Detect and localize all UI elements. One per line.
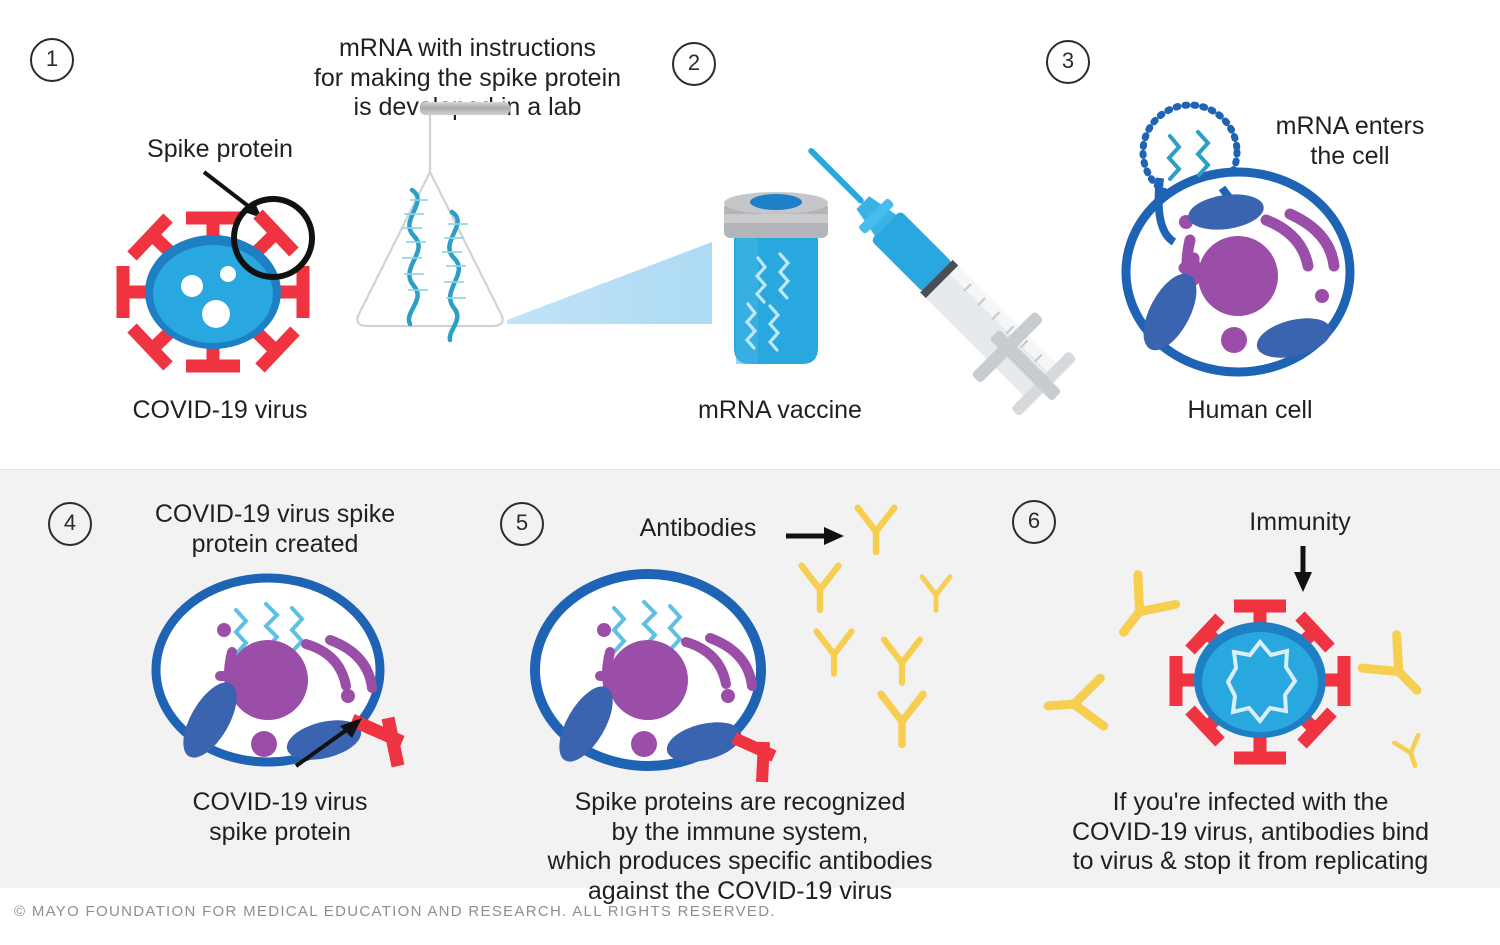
- covid-virus-illustration: [88, 186, 338, 396]
- antibody: [816, 632, 851, 674]
- mrna-vaccine-label: mRNA vaccine: [640, 396, 920, 426]
- spike-protein-callout-label: Spike protein: [110, 135, 330, 165]
- lab-flask-illustration: [352, 102, 652, 402]
- step-number-5: 5: [500, 502, 544, 546]
- spike-protein-on-cell: [734, 738, 774, 782]
- cell-recognized-illustration: [518, 560, 798, 790]
- needle: [807, 147, 865, 205]
- flask-outline: [357, 108, 502, 326]
- light-beam: [507, 242, 712, 324]
- step5-description: Spike proteins are recognized by the imm…: [500, 788, 980, 906]
- antibody: [858, 508, 895, 552]
- flask-rim: [420, 102, 510, 115]
- antibodies-callout-label: Antibodies: [608, 514, 788, 544]
- step-number-1: 1: [30, 38, 74, 82]
- step-number-4: 4: [48, 502, 92, 546]
- immunity-callout-label: Immunity: [1200, 508, 1400, 538]
- spike-protein-pointer-arrow: [290, 714, 380, 774]
- human-cell-label: Human cell: [1130, 396, 1370, 426]
- nucleus: [1198, 236, 1278, 316]
- step-number-2: 2: [672, 42, 716, 86]
- antibody: [802, 566, 839, 610]
- virus-body: [1202, 632, 1318, 732]
- step4-spike-label: COVID-19 virus spike protein: [130, 788, 430, 847]
- step-number-6: 6: [1012, 500, 1056, 544]
- antibody: [881, 694, 923, 744]
- human-cell-illustration: [1098, 100, 1378, 380]
- antibody: [922, 577, 950, 611]
- covid-virus-label: COVID-19 virus: [80, 396, 360, 426]
- copyright-notice: © MAYO FOUNDATION FOR MEDICAL EDUCATION …: [14, 903, 776, 920]
- antibody-cluster-step5: [804, 500, 984, 740]
- vial-septum: [750, 194, 802, 210]
- step4-caption: COVID-19 virus spike protein created: [110, 500, 440, 559]
- vacuole: [1221, 327, 1247, 353]
- infographic-canvas: 1 Spike protein: [0, 0, 1500, 945]
- panel-divider: [0, 469, 1500, 470]
- virus-body: [153, 245, 273, 343]
- antibody: [884, 640, 920, 683]
- syringe-illustration: [796, 140, 1066, 380]
- step-number-3: 3: [1046, 40, 1090, 84]
- virus-bound-by-antibodies: [1060, 570, 1460, 790]
- step6-description: If you're infected with the COVID-19 vir…: [1008, 788, 1493, 877]
